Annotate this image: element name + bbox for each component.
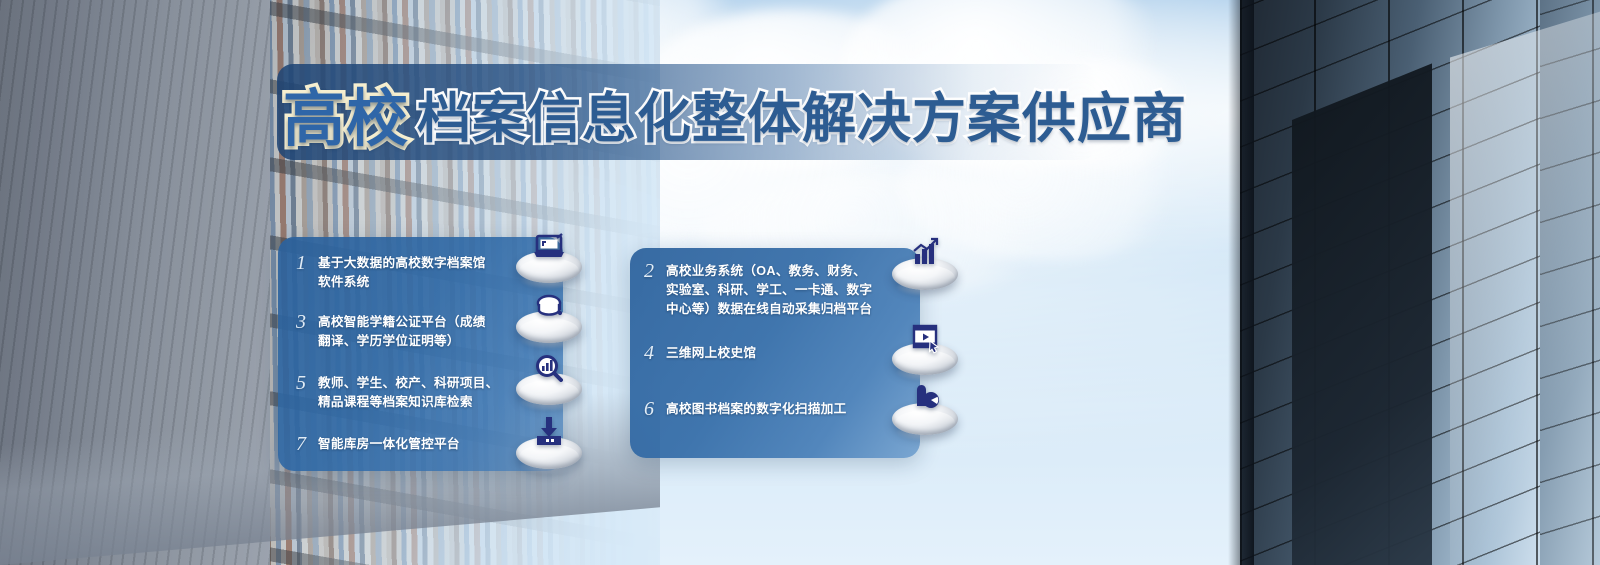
list-item-label: 基于大数据的高校数字档案馆 软件系统 bbox=[318, 254, 486, 292]
hero-banner: 高校 档案信息化整体解决方案供应商 1 基于大数据的高校数字档案馆 软件系统 bbox=[0, 0, 1600, 565]
building-glass-highlight bbox=[1450, 2, 1600, 565]
list-item-label: 教师、学生、校产、科研项目、 精品课程等档案知识库检索 bbox=[318, 374, 499, 412]
list-item-icon-pedestal bbox=[892, 325, 958, 381]
list-item-icon-pedestal bbox=[516, 419, 582, 475]
glass-building-photo bbox=[1120, 0, 1600, 565]
list-item[interactable]: 2 高校业务系统（OA、教务、财务、 实验室、科研、学工、一卡通、数字 中心等）… bbox=[644, 262, 874, 319]
download-archive-icon bbox=[530, 415, 568, 451]
list-item-number: 2 bbox=[644, 262, 666, 281]
graduation-cap-icon bbox=[530, 289, 568, 325]
page-title: 高校 档案信息化整体解决方案供应商 bbox=[283, 70, 1187, 156]
list-item-number: 4 bbox=[644, 344, 666, 363]
solutions-card-left: 1 基于大数据的高校数字档案馆 软件系统 3 高校智能 bbox=[278, 237, 563, 471]
film-play-click-icon bbox=[906, 321, 944, 357]
title-highlight: 高校 bbox=[283, 68, 409, 158]
building-dark-panel bbox=[1292, 63, 1432, 565]
list-item-icon-pedestal bbox=[516, 233, 582, 289]
title-rest: 档案信息化整体解决方案供应商 bbox=[417, 74, 1187, 153]
list-item-icon-pedestal bbox=[892, 385, 958, 441]
scanner-icon bbox=[906, 381, 944, 417]
bar-chart-growth-icon bbox=[906, 236, 944, 272]
list-item[interactable]: 7 智能库房一体化管控平台 bbox=[296, 435, 512, 454]
list-item-label: 高校图书档案的数字化扫描加工 bbox=[666, 400, 847, 419]
search-chart-icon bbox=[530, 351, 568, 387]
list-item-label: 高校智能学籍公证平台（成绩 翻译、学历学位证明等） bbox=[318, 313, 486, 351]
list-item[interactable]: 3 高校智能学籍公证平台（成绩 翻译、学历学位证明等） bbox=[296, 313, 512, 351]
list-item-label: 高校业务系统（OA、教务、财务、 实验室、科研、学工、一卡通、数字 中心等）数据… bbox=[666, 262, 872, 319]
building-corner-edge bbox=[1228, 0, 1254, 565]
list-item[interactable]: 5 教师、学生、校产、科研项目、 精品课程等档案知识库检索 bbox=[296, 374, 516, 412]
list-item[interactable]: 6 高校图书档案的数字化扫描加工 bbox=[644, 400, 874, 419]
list-item-number: 6 bbox=[644, 400, 666, 419]
list-item-number: 5 bbox=[296, 374, 318, 393]
list-item-icon-pedestal bbox=[892, 240, 958, 296]
list-item-number: 1 bbox=[296, 254, 318, 273]
list-item-number: 7 bbox=[296, 435, 318, 454]
list-item-number: 3 bbox=[296, 313, 318, 332]
list-item-label: 三维网上校史馆 bbox=[666, 344, 756, 363]
list-item-icon-pedestal bbox=[516, 355, 582, 411]
list-item[interactable]: 4 三维网上校史馆 bbox=[644, 344, 874, 363]
list-item[interactable]: 1 基于大数据的高校数字档案馆 软件系统 bbox=[296, 254, 512, 292]
list-item-icon-pedestal bbox=[516, 293, 582, 349]
laptop-icon bbox=[530, 229, 568, 265]
solutions-card-right: 2 高校业务系统（OA、教务、财务、 实验室、科研、学工、一卡通、数字 中心等）… bbox=[630, 248, 920, 458]
list-item-label: 智能库房一体化管控平台 bbox=[318, 435, 460, 454]
